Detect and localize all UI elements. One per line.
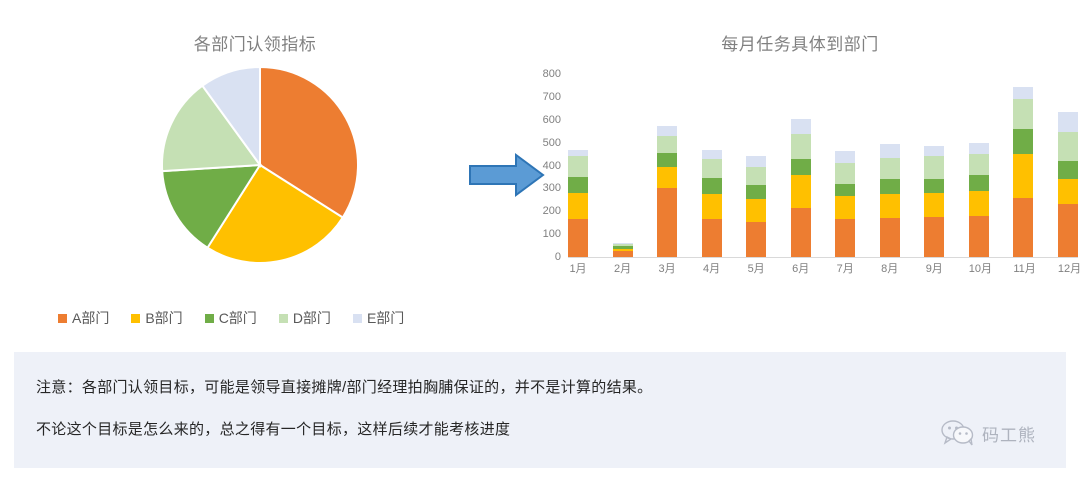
y-axis-tick: 700 [543, 91, 561, 103]
bar-segment-A部门-12月[interactable] [1058, 204, 1078, 257]
bar-segment-A部门-11月[interactable] [1013, 198, 1033, 257]
x-axis-tick-10月: 10月 [969, 260, 989, 276]
bar-segment-C部门-6月[interactable] [791, 159, 811, 175]
legend-swatch-icon [205, 314, 214, 323]
pie-chart-graphic [160, 65, 360, 265]
bar-segment-E部门-5月[interactable] [746, 156, 766, 166]
bar-segment-E部门-4月[interactable] [702, 150, 722, 159]
bar-segment-A部门-10月[interactable] [969, 216, 989, 257]
legend-label: B部门 [145, 308, 182, 328]
x-axis: 1月2月3月4月5月6月7月8月9月10月11月12月 [568, 260, 1078, 276]
bar-segment-A部门-6月[interactable] [791, 208, 811, 257]
y-axis-tick: 400 [543, 160, 561, 172]
legend-swatch-icon [131, 314, 140, 323]
bar-segment-A部门-2月[interactable] [613, 251, 633, 257]
legend-swatch-icon [58, 314, 67, 323]
bar-chart-plot-area: 0100200300400500600700800 1月2月3月4月5月6月7月… [520, 74, 1080, 270]
pie-legend-item-C部门[interactable]: C部门 [205, 308, 257, 328]
y-axis-tick: 100 [543, 228, 561, 240]
pie-chart-legend: A部门B部门C部门D部门E部门 [58, 308, 426, 328]
bar-series-container [568, 74, 1078, 258]
pie-legend-item-B部门[interactable]: B部门 [131, 308, 182, 328]
bar-segment-E部门-8月[interactable] [880, 144, 900, 158]
bar-segment-D部门-8月[interactable] [880, 158, 900, 180]
x-axis-tick-11月: 11月 [1013, 260, 1033, 276]
bar-segment-D部门-6月[interactable] [791, 134, 811, 159]
x-axis-tick-7月: 7月 [835, 260, 855, 276]
bar-column-2月[interactable] [613, 74, 633, 257]
legend-swatch-icon [353, 314, 362, 323]
x-axis-tick-3月: 3月 [657, 260, 677, 276]
bar-segment-E部门-7月[interactable] [835, 151, 855, 164]
bar-segment-C部门-4月[interactable] [702, 178, 722, 194]
bar-segment-D部门-11月[interactable] [1013, 99, 1033, 129]
legend-swatch-icon [279, 314, 288, 323]
bar-segment-D部门-10月[interactable] [969, 154, 989, 175]
legend-label: C部门 [219, 308, 257, 328]
bar-segment-B部门-9月[interactable] [924, 193, 944, 217]
bar-column-1月[interactable] [568, 74, 588, 257]
x-axis-tick-2月: 2月 [613, 260, 633, 276]
y-axis-tick: 300 [543, 182, 561, 194]
bar-column-10月[interactable] [969, 74, 989, 257]
bar-column-7月[interactable] [835, 74, 855, 257]
bar-column-3月[interactable] [657, 74, 677, 257]
pie-legend-item-E部门[interactable]: E部门 [353, 308, 404, 328]
note-callout-box: 注意：各部门认领目标，可能是领导直接摊牌/部门经理拍胸脯保证的，并不是计算的结果… [14, 352, 1066, 468]
y-axis: 0100200300400500600700800 [520, 74, 564, 257]
x-axis-tick-9月: 9月 [924, 260, 944, 276]
bar-segment-C部门-8月[interactable] [880, 179, 900, 194]
bar-segment-E部门-11月[interactable] [1013, 87, 1033, 100]
pie-chart-panel: 各部门认领指标 A部门B部门C部门D部门E部门 [0, 0, 510, 340]
bar-segment-C部门-11月[interactable] [1013, 129, 1033, 154]
bar-column-9月[interactable] [924, 74, 944, 257]
bar-segment-E部门-9月[interactable] [924, 146, 944, 156]
bar-segment-E部门-1月[interactable] [568, 150, 588, 157]
bar-segment-C部门-9月[interactable] [924, 179, 944, 193]
bar-segment-C部门-1月[interactable] [568, 177, 588, 193]
bar-segment-D部门-5月[interactable] [746, 167, 766, 185]
bar-column-11月[interactable] [1013, 74, 1033, 257]
bar-segment-C部门-7月[interactable] [835, 184, 855, 197]
bar-segment-B部门-11月[interactable] [1013, 154, 1033, 197]
pie-chart-title: 各部门认领指标 [0, 30, 510, 55]
bar-segment-A部门-7月[interactable] [835, 219, 855, 257]
bar-segment-B部门-4月[interactable] [702, 194, 722, 219]
bar-segment-A部门-9月[interactable] [924, 217, 944, 257]
bar-segment-C部门-5月[interactable] [746, 185, 766, 199]
bar-segment-B部门-8月[interactable] [880, 194, 900, 218]
bar-segment-D部门-4月[interactable] [702, 159, 722, 178]
wechat-icon [941, 420, 975, 446]
bar-column-6月[interactable] [791, 74, 811, 257]
y-axis-tick: 800 [543, 68, 561, 80]
bar-segment-A部门-1月[interactable] [568, 219, 588, 257]
bar-column-12月[interactable] [1058, 74, 1078, 257]
bar-segment-E部门-12月[interactable] [1058, 112, 1078, 133]
bar-chart-title: 每月任务具体到部门 [520, 30, 1080, 55]
bar-column-8月[interactable] [880, 74, 900, 257]
bar-segment-D部门-9月[interactable] [924, 156, 944, 179]
bar-segment-B部门-3月[interactable] [657, 167, 677, 189]
legend-label: A部门 [72, 308, 109, 328]
y-axis-tick: 200 [543, 205, 561, 217]
bar-segment-E部门-3月[interactable] [657, 126, 677, 136]
note-line-1: 注意：各部门认领目标，可能是领导直接摊牌/部门经理拍胸脯保证的，并不是计算的结果… [36, 378, 1066, 398]
bar-segment-A部门-3月[interactable] [657, 188, 677, 257]
bar-column-4月[interactable] [702, 74, 722, 257]
bar-segment-D部门-3月[interactable] [657, 136, 677, 153]
legend-label: D部门 [293, 308, 331, 328]
x-axis-tick-6月: 6月 [791, 260, 811, 276]
y-axis-tick: 500 [543, 137, 561, 149]
y-axis-tick: 0 [555, 251, 561, 263]
slide-canvas: 各部门认领指标 A部门B部门C部门D部门E部门 每月任务具体到部门 010020… [0, 0, 1080, 485]
bar-segment-D部门-7月[interactable] [835, 163, 855, 184]
bar-segment-D部门-12月[interactable] [1058, 132, 1078, 161]
note-line-2: 不论这个目标是怎么来的，总之得有一个目标，这样后续才能考核进度 [36, 420, 1066, 440]
pie-svg [160, 65, 360, 265]
watermark-label: 码工熊 [982, 421, 1036, 446]
bar-column-5月[interactable] [746, 74, 766, 257]
bar-segment-C部门-3月[interactable] [657, 153, 677, 167]
pie-legend-item-A部门[interactable]: A部门 [58, 308, 109, 328]
x-axis-tick-12月: 12月 [1058, 260, 1078, 276]
bar-segment-B部门-1月[interactable] [568, 193, 588, 219]
bar-segment-B部门-5月[interactable] [746, 199, 766, 222]
bar-segment-E部门-10月[interactable] [969, 143, 989, 154]
bar-segment-B部门-10月[interactable] [969, 191, 989, 216]
bar-segment-E部门-6月[interactable] [791, 119, 811, 134]
bar-segment-B部门-12月[interactable] [1058, 179, 1078, 204]
pie-legend-item-D部门[interactable]: D部门 [279, 308, 331, 328]
x-axis-tick-5月: 5月 [746, 260, 766, 276]
bar-segment-A部门-5月[interactable] [746, 222, 766, 257]
bar-segment-B部门-6月[interactable] [791, 175, 811, 208]
bar-segment-D部门-1月[interactable] [568, 156, 588, 177]
bar-segment-B部门-7月[interactable] [835, 196, 855, 219]
bar-chart-panel: 每月任务具体到部门 0100200300400500600700800 1月2月… [520, 0, 1080, 340]
x-axis-tick-1月: 1月 [568, 260, 588, 276]
watermark: 码工熊 [941, 420, 1036, 446]
x-axis-tick-4月: 4月 [702, 260, 722, 276]
bar-segment-A部门-8月[interactable] [880, 218, 900, 257]
x-axis-tick-8月: 8月 [880, 260, 900, 276]
y-axis-tick: 600 [543, 114, 561, 126]
legend-label: E部门 [367, 308, 404, 328]
bar-segment-C部门-10月[interactable] [969, 175, 989, 191]
bar-segment-C部门-12月[interactable] [1058, 161, 1078, 179]
bar-segment-A部门-4月[interactable] [702, 219, 722, 257]
